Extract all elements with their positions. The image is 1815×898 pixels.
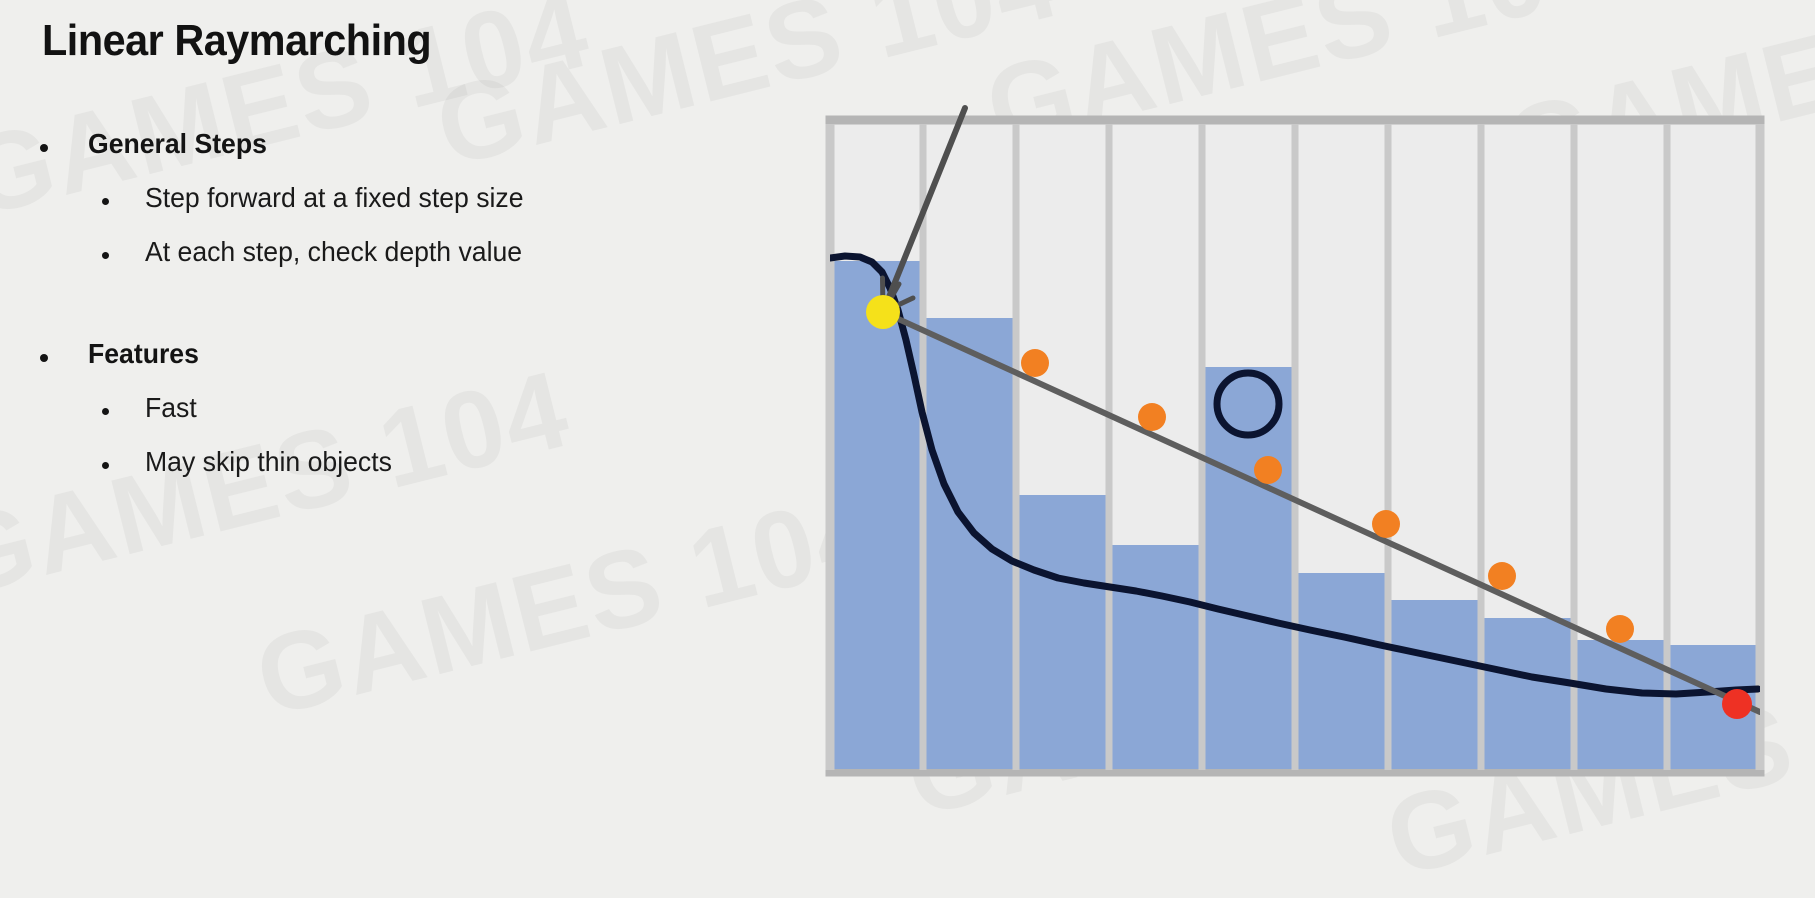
ray-sample-point (1021, 349, 1049, 377)
ray-sample-point (1606, 615, 1634, 643)
page-title: Linear Raymarching (42, 16, 431, 66)
ray-sample-point (1488, 562, 1516, 590)
bullet-label: At each step, check depth value (145, 236, 522, 268)
bullet-dot-icon (102, 198, 109, 205)
bullet-label: May skip thin objects (145, 446, 392, 478)
raymarching-diagram (815, 100, 1775, 790)
slide-root: Linear Raymarching General StepsStep for… (0, 0, 1815, 898)
bullet-dot-icon (40, 144, 48, 152)
bullet-dot-icon (102, 462, 109, 469)
ray-origin-point (866, 295, 900, 329)
bullet-item-l2: Fast (102, 392, 700, 424)
bullet-label: Step forward at a fixed step size (145, 182, 524, 214)
bullet-list: General StepsStep forward at a fixed ste… (40, 118, 700, 478)
bullet-dot-icon (40, 354, 48, 362)
depth-bar (1390, 600, 1479, 769)
bullet-item-l2: Step forward at a fixed step size (102, 182, 700, 214)
depth-bar (1483, 618, 1572, 769)
bullet-label: Features (88, 338, 199, 370)
raymarching-svg (815, 100, 1775, 790)
bullet-label: Fast (145, 392, 197, 424)
bullet-item-l1: Features (40, 338, 700, 370)
bullet-item-l2: At each step, check depth value (102, 236, 700, 268)
depth-bar (1297, 573, 1386, 769)
depth-bar (1204, 367, 1293, 769)
ray-hit-point (1722, 689, 1752, 719)
depth-bar (1018, 495, 1107, 769)
ray-sample-point (1254, 456, 1282, 484)
depth-bar (925, 318, 1014, 769)
ray-sample-point (1372, 510, 1400, 538)
bullet-dot-icon (102, 252, 109, 259)
bullet-label: General Steps (88, 128, 267, 160)
ray-sample-point (1138, 403, 1166, 431)
bullet-item-l2: May skip thin objects (102, 446, 700, 478)
bullet-dot-icon (102, 408, 109, 415)
bullet-item-l1: General Steps (40, 128, 700, 160)
depth-bar (1111, 545, 1200, 769)
bullet-spacer (40, 268, 700, 328)
